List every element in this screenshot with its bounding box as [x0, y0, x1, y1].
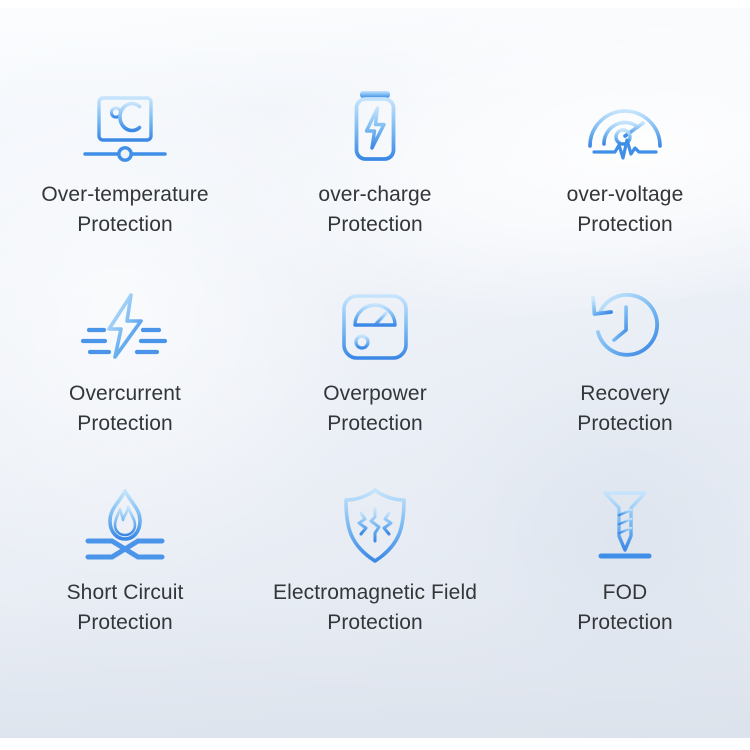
screw-surface-icon	[593, 484, 657, 568]
feature-item-overcurrent: Overcurrent Protection	[0, 285, 250, 484]
feature-item-fod: FOD Protection	[500, 484, 750, 683]
power-meter-icon	[340, 285, 410, 369]
feature-item-over-voltage: over-voltage Protection	[500, 86, 750, 285]
feature-label: over-voltage Protection	[567, 180, 684, 240]
feature-label: Overcurrent Protection	[69, 379, 181, 439]
clock-restore-icon	[588, 285, 662, 369]
feature-label: Electromagnetic Field Protection	[273, 578, 477, 638]
protection-features-panel: Over-temperature Protection over-charge …	[0, 0, 750, 750]
voltage-gauge-icon	[582, 86, 668, 170]
feature-label: Recovery Protection	[577, 379, 673, 439]
feature-item-electromagnetic-field: Electromagnetic Field Protection	[250, 484, 500, 683]
feature-label: over-charge Protection	[318, 180, 431, 240]
feature-item-over-charge: over-charge Protection	[250, 86, 500, 285]
feature-label: Short Circuit Protection	[67, 578, 184, 638]
shield-emf-icon	[339, 484, 411, 568]
lightning-bolt-icon	[79, 285, 171, 369]
feature-item-overpower: Overpower Protection	[250, 285, 500, 484]
feature-item-recovery: Recovery Protection	[500, 285, 750, 484]
thermometer-celsius-icon	[79, 86, 171, 170]
feature-label: Over-temperature Protection	[41, 180, 208, 240]
feature-label: FOD Protection	[577, 578, 673, 638]
battery-bolt-icon	[339, 86, 411, 170]
feature-item-short-circuit: Short Circuit Protection	[0, 484, 250, 683]
feature-item-over-temperature: Over-temperature Protection	[0, 86, 250, 285]
feature-grid: Over-temperature Protection over-charge …	[0, 86, 750, 683]
feature-label: Overpower Protection	[323, 379, 427, 439]
flame-crossed-wires-icon	[82, 484, 168, 568]
